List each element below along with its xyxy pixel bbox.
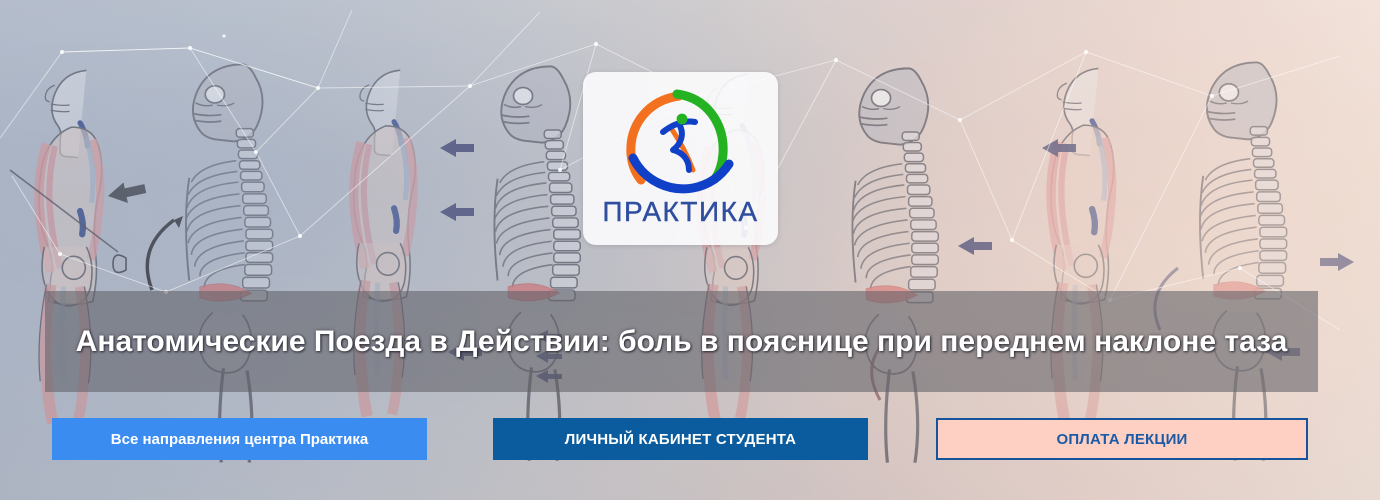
pay-lecture-button[interactable]: ОПЛАТА ЛЕКЦИИ <box>936 418 1308 460</box>
practica-emblem-icon <box>619 84 743 196</box>
practica-logo-card[interactable]: ПРАКТИКА <box>583 72 778 245</box>
all-directions-button[interactable]: Все направления центра Практика <box>52 418 427 460</box>
logo-wordmark: ПРАКТИКА <box>602 198 758 226</box>
page-title: Анатомические Поезда в Действии: боль в … <box>76 323 1288 361</box>
student-account-button[interactable]: ЛИЧНЫЙ КАБИНЕТ СТУДЕНТА <box>493 418 868 460</box>
hero-banner: ПРАКТИКА Анатомические Поезда в Действии… <box>0 0 1380 500</box>
title-banner: Анатомические Поезда в Действии: боль в … <box>45 291 1318 392</box>
